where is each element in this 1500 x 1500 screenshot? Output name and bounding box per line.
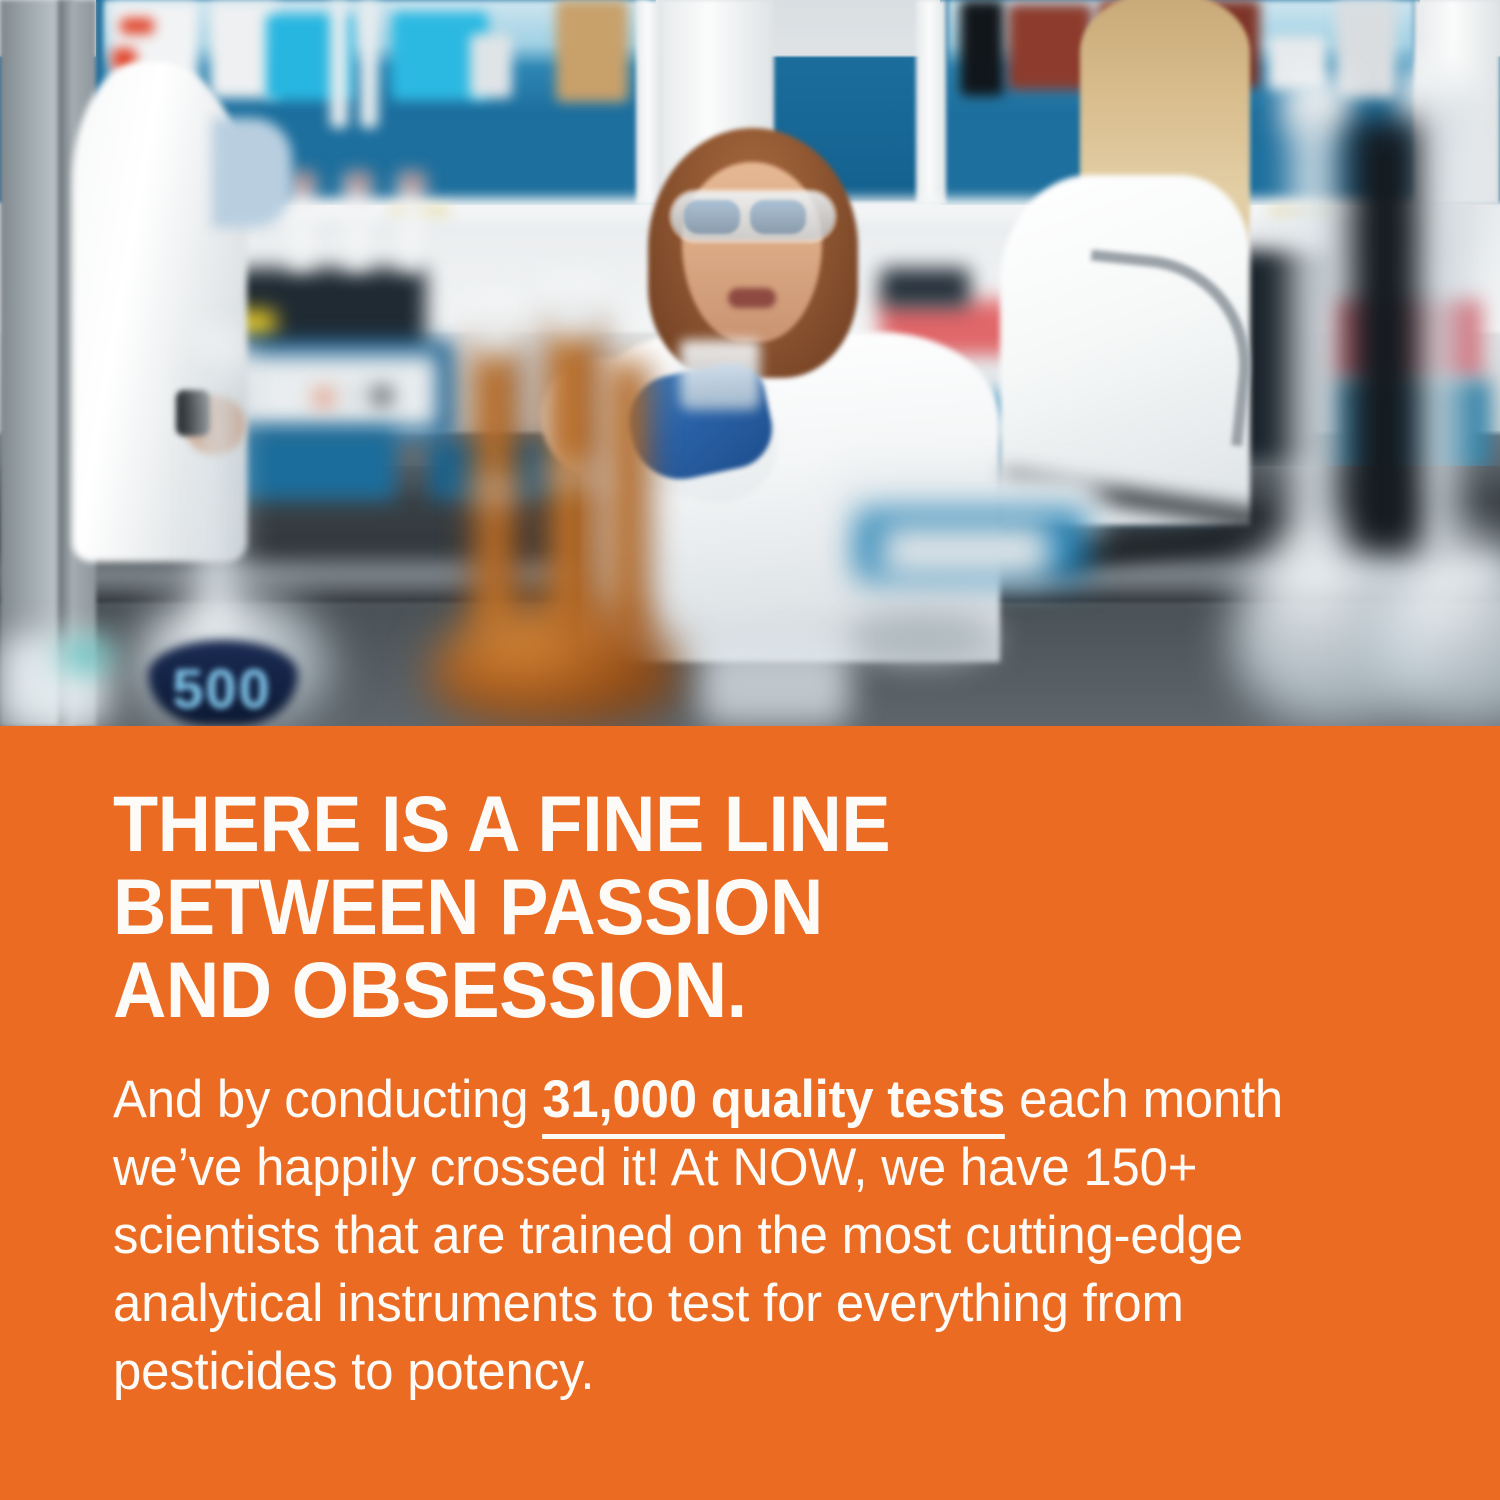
lab-vial bbox=[402, 176, 424, 188]
lab-vial bbox=[348, 176, 370, 188]
flask-graduation-ring bbox=[543, 470, 603, 480]
center-scientist-face bbox=[682, 162, 822, 342]
lab-equipment-knob bbox=[372, 386, 392, 406]
laboratory-photo: 500 bbox=[0, 0, 1500, 726]
bench-instrument bbox=[880, 524, 1050, 578]
center-scientist-mouth bbox=[728, 288, 776, 308]
body-copy: And by conducting 31,000 quality tests e… bbox=[113, 1066, 1351, 1406]
lab-equipment-knob bbox=[346, 388, 362, 404]
shelf-item bbox=[470, 34, 512, 98]
goggles-lens-left bbox=[684, 200, 740, 234]
flask-stopper bbox=[196, 334, 244, 382]
lab-vial bbox=[290, 176, 312, 270]
flask-stopper bbox=[1286, 76, 1348, 130]
lab-vial bbox=[346, 176, 368, 270]
left-scientist-collar bbox=[212, 118, 292, 228]
marketing-poster: 500 THERE IS A FINE LINE BETWEEN PASSION… bbox=[0, 0, 1500, 1500]
flask-volume-label: 500 bbox=[152, 660, 292, 718]
flask-graduation-ring bbox=[1286, 228, 1348, 238]
lab-equipment-knob bbox=[314, 388, 334, 408]
page-headline: THERE IS A FINE LINE BETWEEN PASSION AND… bbox=[113, 782, 1329, 1031]
lab-vial bbox=[400, 176, 422, 270]
body-part-1: And by conducting bbox=[113, 1070, 542, 1129]
shelf-item bbox=[330, 0, 348, 128]
headline-line-1: THERE IS A FINE LINE bbox=[113, 782, 1329, 865]
headline-line-2: BETWEEN PASSION bbox=[113, 865, 1329, 948]
goggles-lens-right bbox=[750, 200, 806, 234]
flask-stopper bbox=[543, 280, 603, 336]
flask-stopper bbox=[470, 300, 522, 354]
amber-flask-neck bbox=[545, 322, 601, 642]
flask-stopper bbox=[1402, 64, 1468, 120]
shelf-item bbox=[360, 0, 378, 128]
shelf-item bbox=[960, 0, 1004, 96]
flask-graduation-ring bbox=[470, 486, 522, 496]
clear-flask-neck bbox=[1288, 96, 1346, 566]
amber-flask-neck bbox=[608, 362, 648, 642]
shelf-item bbox=[556, 0, 628, 102]
orange-message-panel: THERE IS A FINE LINE BETWEEN PASSION AND… bbox=[0, 726, 1500, 1500]
petri-dish bbox=[846, 612, 996, 662]
quality-tests-highlight: 31,000 quality tests bbox=[542, 1070, 1005, 1139]
held-beaker bbox=[680, 340, 760, 410]
lab-vial bbox=[292, 176, 314, 188]
dark-cabinet-right bbox=[1350, 120, 1420, 550]
headline-line-3: AND OBSESSION. bbox=[113, 948, 1329, 1031]
foreground-vial-cap bbox=[62, 644, 108, 668]
shelf-item bbox=[120, 18, 154, 34]
foreground-vial bbox=[700, 640, 850, 726]
